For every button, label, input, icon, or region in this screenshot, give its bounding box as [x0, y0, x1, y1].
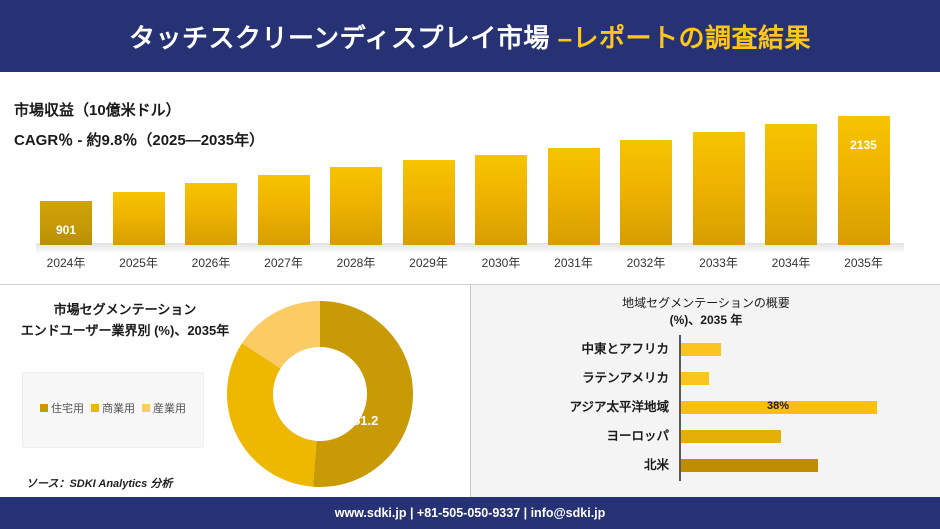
region-panel: 地域セグメンテーションの概要 (%)、2035 年 中東とアフリカラテンアメリカ…: [470, 284, 940, 498]
legend-label: 産業用: [153, 400, 186, 416]
bar-2032年: [620, 140, 672, 245]
end-user-donut-chart: 51.2: [225, 299, 415, 489]
bar-2035年: 2135: [838, 116, 890, 245]
donut-svg: [225, 299, 415, 489]
region-title-line1: 地域セグメンテーションの概要: [471, 295, 940, 312]
bar-2033年: [693, 132, 745, 245]
region-bar-北米: [681, 459, 818, 472]
region-label-ヨーロッパ: ヨーロッパ: [471, 422, 669, 451]
bar-value-2024年: 901: [40, 223, 92, 237]
page-title: タッチスクリーンディスプレイ市場 –レポートの調査結果: [129, 18, 811, 55]
segmentation-title-line1: 市場セグメンテーション: [0, 299, 250, 320]
market-revenue-bar-chart: 9012135 2024年2025年2026年2027年2028年2029年20…: [0, 72, 940, 283]
bar-value-2035年: 2135: [838, 138, 890, 152]
region-label-北米: 北米: [471, 451, 669, 480]
region-bar-中東とアフリカ: [681, 343, 721, 356]
region-row-北米: 北米: [471, 451, 940, 480]
page-title-accent: –レポートの調査結果: [558, 23, 811, 53]
bar-2024年: 901: [40, 201, 92, 245]
region-row-ヨーロッパ: ヨーロッパ: [471, 422, 940, 451]
legend-swatch-icon: [142, 404, 150, 412]
region-title: 地域セグメンテーションの概要 (%)、2035 年: [471, 295, 940, 329]
bar-category-2035年: 2035年: [821, 254, 907, 271]
legend-item-商業用[interactable]: 商業用: [91, 400, 135, 416]
bar-2027年: [258, 175, 310, 245]
bar-2026年: [185, 183, 237, 245]
bar-2034年: [765, 124, 817, 245]
segmentation-panel: 市場セグメンテーション エンドユーザー業界別 (%)、2035年 住宅用商業用産…: [0, 284, 470, 498]
donut-slice-住宅用: [313, 301, 413, 487]
region-label-中東とアフリカ: 中東とアフリカ: [471, 335, 669, 364]
market-revenue-panel: 市場収益（10億米ドル） CAGR％ - 約9.8％（2025―2035年） 9…: [0, 72, 940, 283]
legend-swatch-icon: [40, 404, 48, 412]
region-title-line2: (%)、2035 年: [471, 312, 940, 329]
legend-item-住宅用[interactable]: 住宅用: [40, 400, 84, 416]
donut-legend-row: 住宅用商業用産業用: [23, 400, 203, 416]
donut-data-label: 51.2: [353, 413, 378, 428]
legend-label: 住宅用: [51, 400, 84, 416]
region-bar-ラテンアメリカ: [681, 372, 709, 385]
region-row-アジア太平洋地域: アジア太平洋地域38%: [471, 393, 940, 422]
segmentation-title: 市場セグメンテーション エンドユーザー業界別 (%)、2035年: [0, 299, 250, 341]
bar-2025年: [113, 192, 165, 245]
legend-swatch-icon: [91, 404, 99, 412]
page-footer: www.sdki.jp | +81-505-050-9337 | info@sd…: [0, 497, 940, 529]
bar-2031年: [548, 148, 600, 245]
legend-item-産業用[interactable]: 産業用: [142, 400, 186, 416]
donut-slice-商業用: [227, 343, 316, 487]
legend-label: 商業用: [102, 400, 135, 416]
bar-2030年: [475, 155, 527, 245]
region-title-line2-text: (%)、2035 年: [670, 313, 743, 327]
segmentation-title-line2: エンドユーザー業界別 (%)、2035年: [0, 320, 250, 341]
source-note: ソース：SDKI Analytics 分析: [26, 475, 172, 491]
page-header: タッチスクリーンディスプレイ市場 –レポートの調査結果: [0, 0, 940, 72]
region-row-中東とアフリカ: 中東とアフリカ: [471, 335, 940, 364]
bar-2028年: [330, 167, 382, 245]
region-row-ラテンアメリカ: ラテンアメリカ: [471, 364, 940, 393]
region-bar-chart: 中東とアフリカラテンアメリカアジア太平洋地域38%ヨーロッパ北米: [471, 331, 940, 491]
region-bar-value-アジア太平洋地域: 38%: [767, 400, 789, 412]
donut-legend: 住宅用商業用産業用: [22, 372, 204, 448]
footer-contact: www.sdki.jp | +81-505-050-9337 | info@sd…: [335, 506, 606, 520]
page-title-main: タッチスクリーンディスプレイ市場: [129, 23, 558, 53]
bar-2029年: [403, 160, 455, 245]
region-bar-ヨーロッパ: [681, 430, 781, 443]
region-label-アジア太平洋地域: アジア太平洋地域: [471, 393, 669, 422]
region-label-ラテンアメリカ: ラテンアメリカ: [471, 364, 669, 393]
